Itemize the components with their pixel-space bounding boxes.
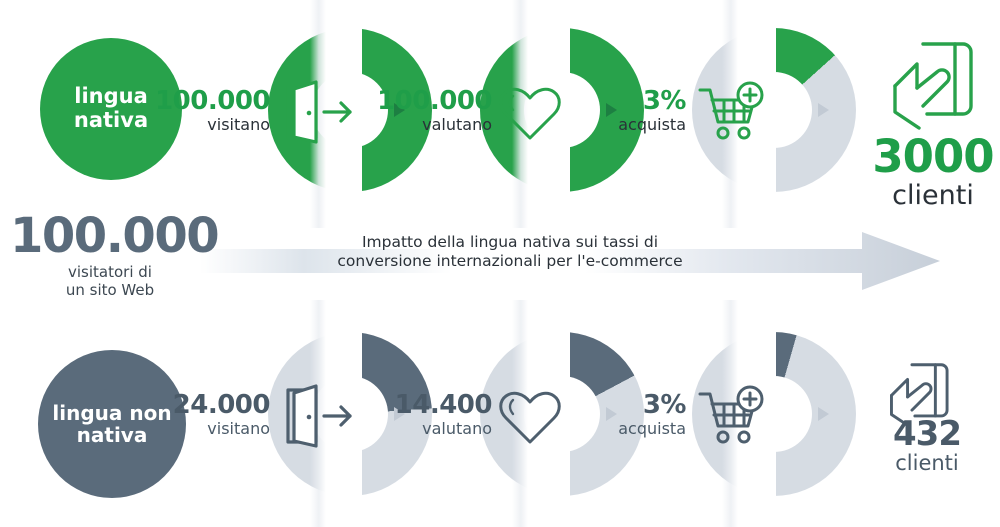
- cart-plus-icon: [698, 384, 764, 450]
- heart-icon-svg: [498, 390, 562, 448]
- metric-acquista-native: 3% acquista: [576, 88, 686, 134]
- result-native: 3000 clienti: [866, 136, 1000, 209]
- metric-valutano-nonnative-caption: valutano: [362, 420, 492, 438]
- result-nonnative-number: 432: [862, 418, 992, 450]
- metric-acquista-nonnative-value: 3%: [576, 392, 686, 418]
- hand-card-icon-svg: [893, 38, 975, 130]
- banner-text-line2: conversione internazionali per l'e-comme…: [310, 252, 710, 271]
- banner-text-line1: Impatto della lingua nativa sui tassi di: [310, 233, 710, 252]
- metric-visitano-nonnative-value: 24.000: [140, 392, 270, 418]
- total-visitors-caption-line1: visitatori di: [10, 264, 210, 282]
- heart-icon: [498, 390, 562, 452]
- metric-valutano-native-caption: valutano: [352, 116, 492, 134]
- metric-valutano-nonnative: 14.400 valutano: [362, 392, 492, 438]
- metric-acquista-nonnative-caption: acquista: [576, 420, 686, 438]
- metric-acquista-nonnative: 3% acquista: [576, 392, 686, 438]
- metric-visitano-nonnative: 24.000 visitano: [140, 392, 270, 438]
- total-visitors-number: 100.000: [10, 212, 210, 260]
- total-visitors-block: 100.000 visitatori di un sito Web: [10, 212, 210, 299]
- cart-plus-icon: [698, 80, 764, 146]
- metric-visitano-nonnative-caption: visitano: [140, 420, 270, 438]
- heart-icon: [498, 86, 562, 148]
- banner-text: Impatto della lingua nativa sui tassi di…: [310, 233, 710, 271]
- metric-valutano-native: 100.000 valutano: [352, 88, 492, 134]
- total-visitors-caption-line2: un sito Web: [10, 282, 210, 300]
- donut-acquista-native-arrow-icon: [818, 103, 829, 117]
- door-exit-icon: [282, 384, 356, 452]
- result-nonnative: 432 clienti: [862, 418, 992, 474]
- metric-acquista-native-value: 3%: [576, 88, 686, 114]
- result-native-number: 3000: [866, 136, 1000, 179]
- result-native-caption: clienti: [866, 182, 1000, 209]
- door-exit-icon-svg: [282, 80, 356, 144]
- donut-acquista-nonnative-arrow-icon: [818, 407, 829, 421]
- door-exit-icon-svg: [282, 384, 356, 448]
- metric-visitano-native-value: 100.000: [130, 88, 270, 114]
- metric-valutano-native-value: 100.000: [352, 88, 492, 114]
- heart-icon-svg: [498, 86, 562, 144]
- cart-plus-icon-svg: [698, 80, 764, 142]
- metric-valutano-nonnative-value: 14.400: [362, 392, 492, 418]
- hand-card-icon: [893, 38, 975, 134]
- metric-visitano-native: 100.000 visitano: [130, 88, 270, 134]
- door-exit-icon: [282, 80, 356, 148]
- infographic-canvas: Impatto della lingua nativa sui tassi di…: [0, 0, 1000, 527]
- metric-visitano-native-caption: visitano: [130, 116, 270, 134]
- result-nonnative-caption: clienti: [862, 453, 992, 474]
- metric-acquista-native-caption: acquista: [576, 116, 686, 134]
- cart-plus-icon-svg: [698, 384, 764, 446]
